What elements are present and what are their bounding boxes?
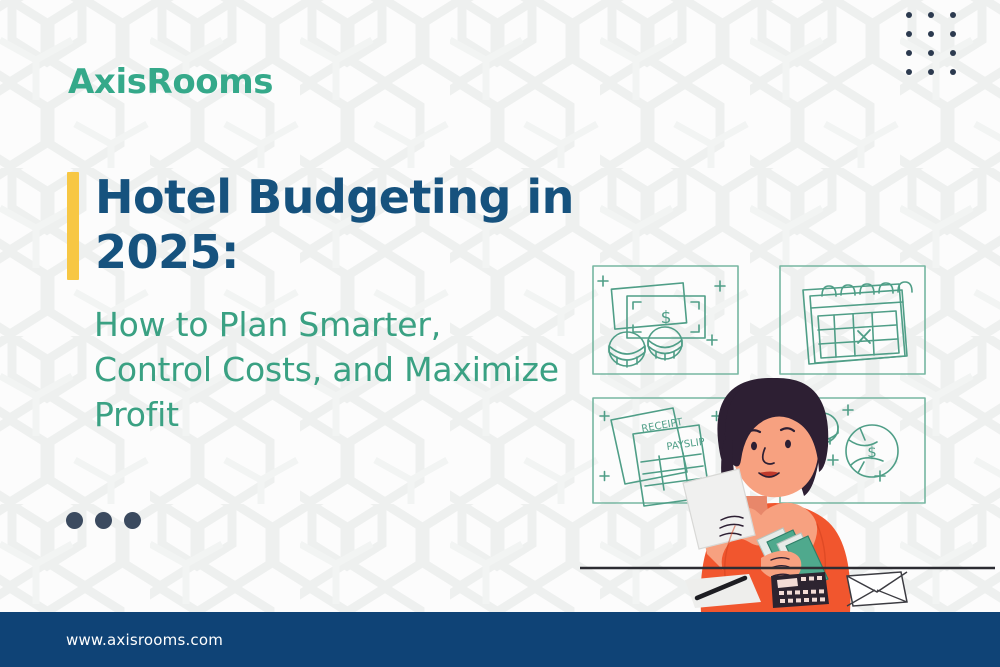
grid-dot xyxy=(906,69,912,75)
website-url[interactable]: www.axisrooms.com xyxy=(66,631,223,649)
grid-dot xyxy=(950,31,956,37)
grid-dot xyxy=(950,50,956,56)
page-subtitle: How to Plan Smarter, Control Costs, and … xyxy=(94,302,564,437)
payslip-label: PAYSLIP xyxy=(666,437,706,453)
grid-dot xyxy=(928,69,934,75)
grid-dot xyxy=(928,31,934,37)
dot-grid-icon xyxy=(906,12,972,88)
grid-dot xyxy=(906,31,912,37)
accent-dot xyxy=(95,512,112,529)
money-panel: $ xyxy=(593,266,738,374)
calendar-panel xyxy=(780,266,925,374)
calculator-icon xyxy=(771,572,829,608)
accent-dot xyxy=(124,512,141,529)
three-dots-icon xyxy=(66,512,141,529)
dollar-sign-icon: $ xyxy=(661,308,672,328)
yellow-accent-bar xyxy=(67,172,79,280)
footer-bar: www.axisrooms.com xyxy=(0,612,1000,667)
grid-dot xyxy=(928,12,934,18)
grid-dot xyxy=(928,50,934,56)
grid-dot xyxy=(950,69,956,75)
accent-dot xyxy=(66,512,83,529)
page-title: Hotel Budgeting in 2025: xyxy=(95,170,615,280)
dollar-sign-icon: $ xyxy=(867,443,877,461)
grid-dot xyxy=(950,12,956,18)
paper-and-pen-icon xyxy=(685,574,761,608)
brand-logo[interactable]: AxisRooms xyxy=(68,62,273,102)
grid-dot xyxy=(906,12,912,18)
grid-dot xyxy=(906,50,912,56)
promo-banner: AxisRooms Hotel Budgeting in 2025: How t… xyxy=(0,0,1000,667)
hero-illustration: $ xyxy=(575,258,1000,613)
envelope-icon xyxy=(847,572,907,606)
